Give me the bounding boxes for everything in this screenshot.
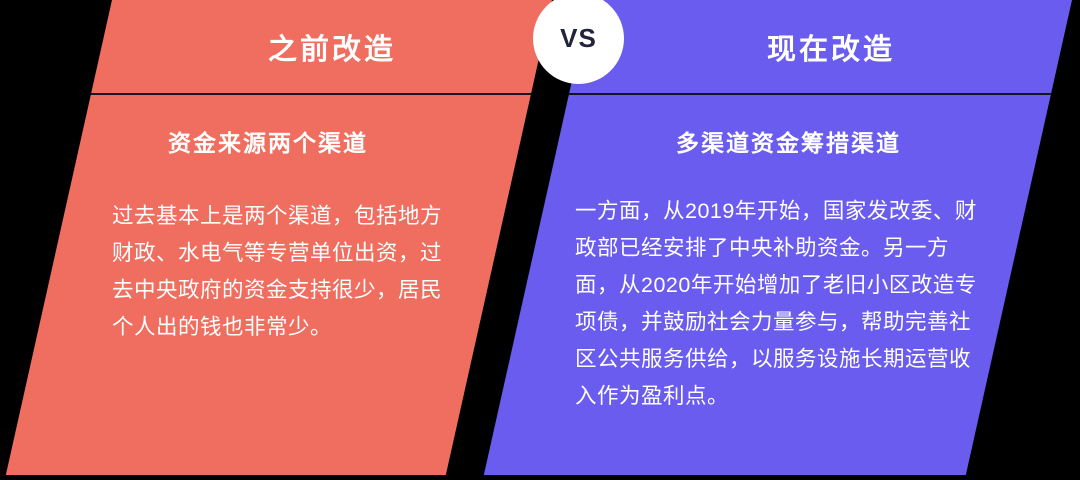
- panel-now-title: 现在改造: [767, 26, 895, 68]
- comparison-panel-before: 之前改造 资金来源两个渠道 过去基本上是两个渠道，包括地方财政、水电气等专营单位…: [6, 0, 552, 476]
- panel-before-divider: [6, 93, 552, 95]
- panel-now-subtitle: 多渠道资金筹措渠道: [676, 124, 901, 158]
- panel-before-title: 之前改造: [268, 26, 396, 68]
- panel-before-header: 之前改造: [112, 0, 552, 93]
- panel-now-header: 现在改造: [590, 0, 1072, 93]
- panel-before-subtitle: 资金来源两个渠道: [168, 124, 368, 158]
- panel-now-paragraph: 一方面，从2019年开始，国家发改委、财政部已经安排了中央补助资金。另一方面，从…: [575, 193, 990, 415]
- panel-before-content: 之前改造 资金来源两个渠道 过去基本上是两个渠道，包括地方财政、水电气等专营单位…: [112, 0, 552, 476]
- comparison-infographic: 之前改造 资金来源两个渠道 过去基本上是两个渠道，包括地方财政、水电气等专营单位…: [0, 0, 1080, 480]
- panel-now-divider: [484, 93, 1072, 95]
- vs-badge-label: VS: [560, 23, 597, 54]
- bottom-strip: [0, 475, 1080, 480]
- panel-now-content: 现在改造 多渠道资金筹措渠道 一方面，从2019年开始，国家发改委、财政部已经安…: [590, 0, 1072, 476]
- panel-before-paragraph: 过去基本上是两个渠道，包括地方财政、水电气等专营单位出资，过去中央政府的资金支持…: [112, 198, 462, 346]
